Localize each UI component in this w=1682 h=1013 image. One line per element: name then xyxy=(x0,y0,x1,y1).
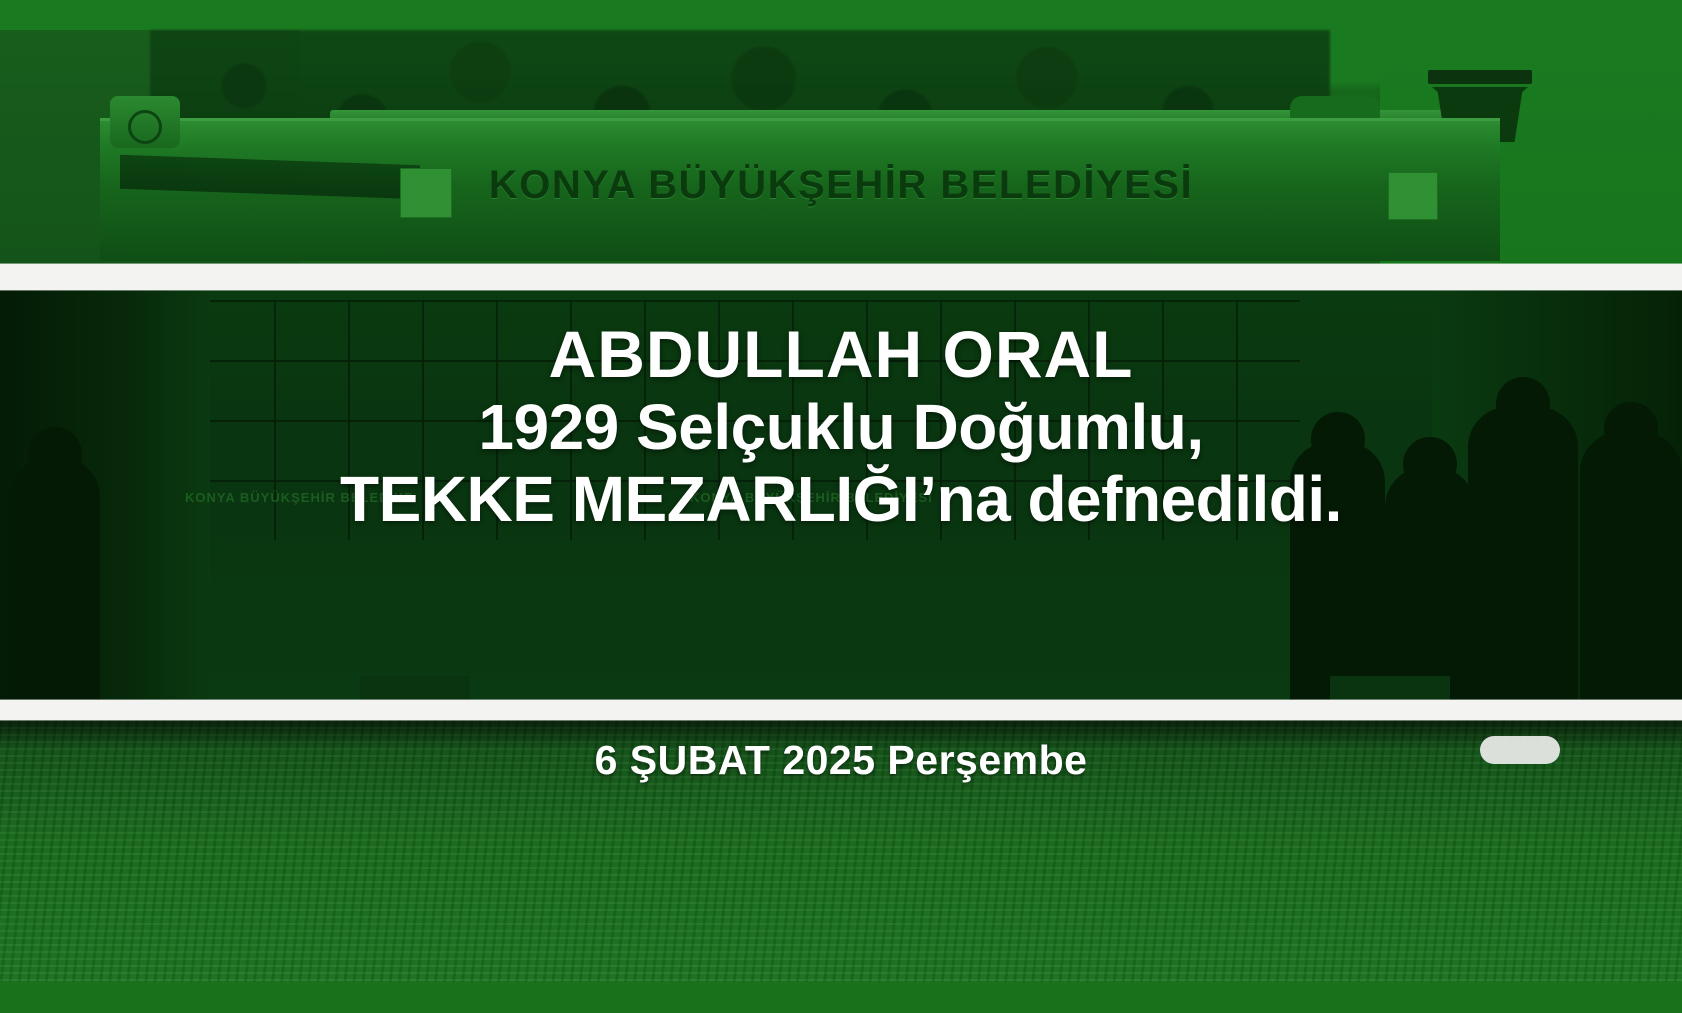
headline-block: ABDULLAH ORAL 1929 Selçuklu Doğumlu, TEK… xyxy=(0,318,1682,535)
deceased-name: ABDULLAH ORAL xyxy=(0,318,1682,392)
divider-bar-top xyxy=(0,264,1682,290)
divider-bar-bottom xyxy=(0,700,1682,720)
vehicle-banner-text: KONYA BÜYÜKŞEHİR BELEDİYESİ xyxy=(0,163,1682,208)
birth-info: 1929 Selçuklu Doğumlu, xyxy=(0,392,1682,464)
chimney-cap xyxy=(1428,70,1532,84)
date-text: 6 ŞUBAT 2025 Perşembe xyxy=(0,737,1682,784)
vehicle-roof-bulge xyxy=(1290,96,1380,118)
announcement-graphic: KONYA BÜYÜKŞEHİR BELEDİYESİ KONYA BÜYÜKŞ… xyxy=(0,0,1682,1013)
burial-info: TEKKE MEZARLIĞI’na defnedildi. xyxy=(0,464,1682,536)
footer-green-bar xyxy=(0,982,1682,1013)
loudspeaker-cone-icon xyxy=(128,110,162,144)
